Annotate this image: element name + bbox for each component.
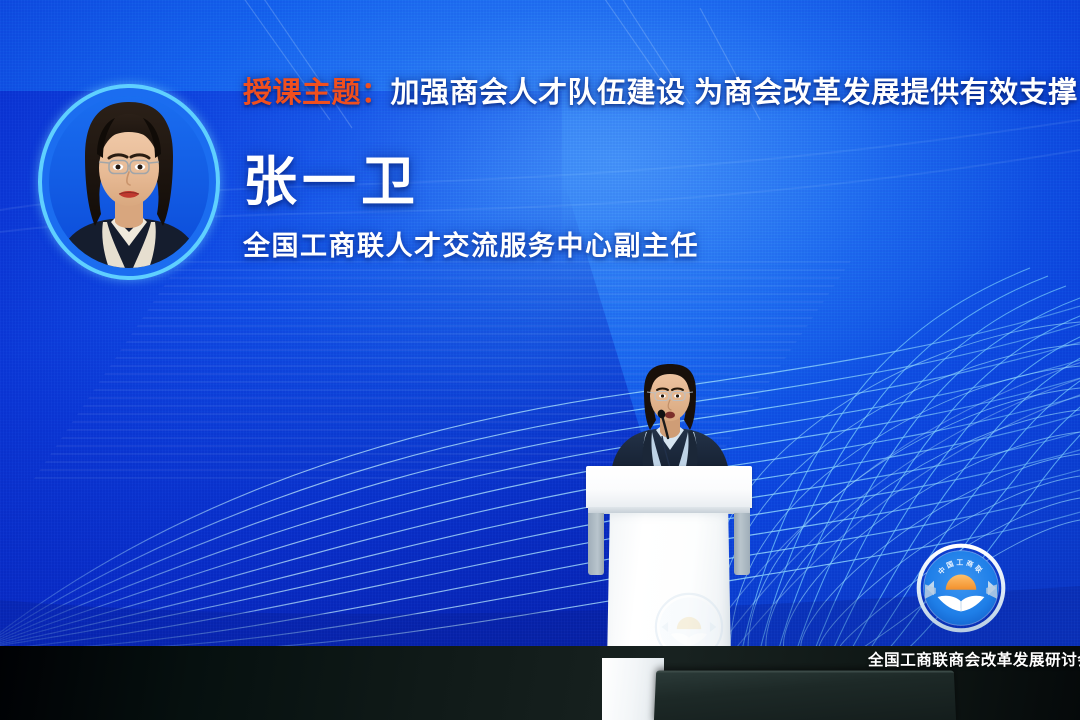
podium-shelf bbox=[588, 507, 750, 514]
speaker-figure-svg bbox=[596, 364, 744, 482]
lecture-topic-label: 授课主题： bbox=[243, 77, 391, 109]
speaker-title: 全国工商联人才交流服务中心副主任 bbox=[243, 233, 699, 260]
foreground-confidence-monitor bbox=[654, 671, 956, 720]
led-screen-backdrop: 授课主题：加强商会人才队伍建设 为商会改革发展提供有效支撑 张一卫 全国工商联人… bbox=[0, 0, 1080, 648]
speaker-figure bbox=[596, 364, 744, 482]
podium-support-left bbox=[588, 513, 604, 575]
portrait-frame bbox=[49, 96, 209, 268]
cfic-emblem-svg: 中国工商联 C.F.I.C bbox=[916, 543, 1006, 633]
podium-support-right bbox=[734, 513, 750, 575]
podium-top-surface bbox=[586, 466, 752, 508]
lecture-topic-text: 加强商会人才队伍建设 为商会改革发展提供有效支撑 bbox=[391, 77, 1078, 109]
speaker-name: 张一卫 bbox=[243, 155, 420, 209]
portrait-photo bbox=[49, 96, 209, 268]
conference-stage-photo: 授课主题：加强商会人才队伍建设 为商会改革发展提供有效支撑 张一卫 全国工商联人… bbox=[0, 0, 1080, 720]
speaker-portrait-badge bbox=[38, 84, 220, 280]
lecture-topic-headline: 授课主题：加强商会人才队伍建设 为商会改革发展提供有效支撑 bbox=[243, 76, 1080, 110]
cfic-emblem: 中国工商联 C.F.I.C bbox=[916, 543, 1006, 633]
event-title: 全国工商联商会改革发展研讨会 bbox=[868, 648, 1080, 670]
